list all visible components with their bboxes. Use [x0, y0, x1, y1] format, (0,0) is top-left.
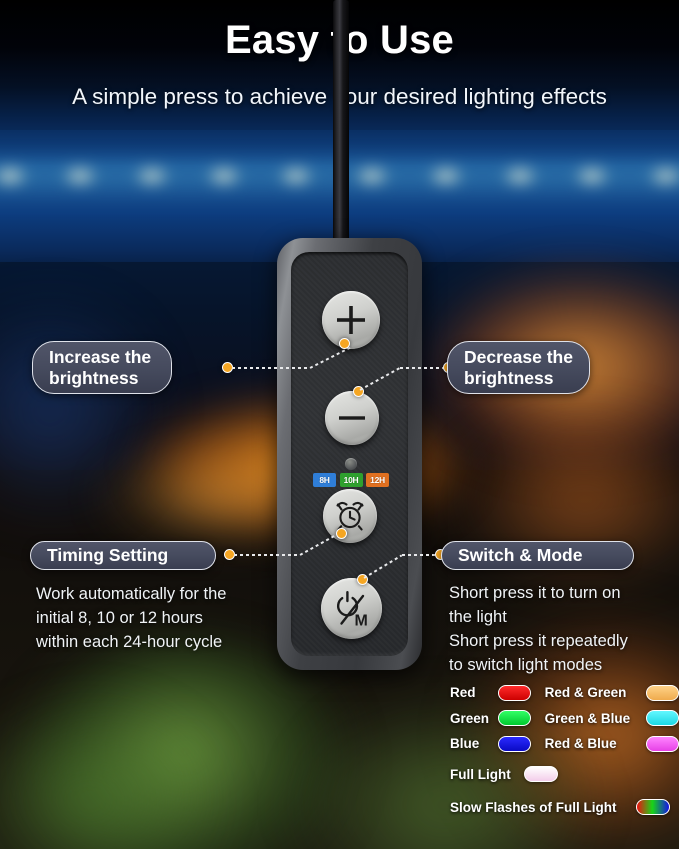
mode-letter: M — [354, 612, 367, 629]
callout-decrease-line2: brightness — [464, 368, 573, 389]
legend-label-blue: Blue — [450, 736, 498, 751]
power-mode-icon: M — [330, 587, 374, 631]
decrease-brightness-button[interactable] — [325, 391, 379, 445]
legend-label-red-green: Red & Green — [545, 685, 647, 700]
connector-dot-timing-button — [336, 528, 347, 539]
callout-timing-setting[interactable]: Timing Setting — [30, 541, 216, 570]
legend-row: Red Red & Green — [450, 680, 679, 706]
legend-swatch-red-blue — [646, 736, 679, 752]
callout-increase-brightness[interactable]: Increase the brightness — [32, 341, 172, 394]
timer-badge-8h-label: 8H — [319, 475, 329, 485]
legend-label-slow-flashes: Slow Flashes of Full Light — [450, 800, 636, 815]
legend-label-red: Red — [450, 685, 498, 700]
timing-setting-button[interactable] — [323, 489, 377, 543]
timer-badge-10h: 10H — [340, 473, 363, 487]
legend-swatch-red — [498, 685, 531, 701]
legend-row-slow-flashes: Slow Flashes of Full Light — [450, 794, 679, 821]
timer-badge-10h-label: 10H — [344, 475, 359, 485]
timer-badge-12h: 12H — [366, 473, 389, 487]
callout-switch-mode[interactable]: Switch & Mode — [441, 541, 634, 570]
callout-timing-label: Timing Setting — [47, 545, 168, 566]
callout-switch-body-line1: Short press it to turn on — [449, 581, 674, 605]
timer-badge-12h-label: 12H — [370, 475, 385, 485]
timer-badges: 8H 10H 12H — [313, 473, 389, 487]
power-cable — [333, 0, 349, 248]
legend-label-red-blue: Red & Blue — [545, 736, 647, 751]
legend-swatch-red-green — [646, 685, 679, 701]
status-led-icon — [345, 458, 357, 470]
callout-timing-body-line1: Work automatically for the — [36, 582, 266, 606]
callout-increase-line1: Increase the — [49, 347, 151, 368]
callout-decrease-line1: Decrease the — [464, 347, 573, 368]
callout-increase-line2: brightness — [49, 368, 151, 389]
legend-row: Blue Red & Blue — [450, 731, 679, 757]
legend-swatch-slow-flashes — [636, 799, 670, 815]
minus-icon — [336, 402, 368, 434]
callout-decrease-text: Decrease the brightness — [464, 347, 573, 389]
timer-badge-8h: 8H — [313, 473, 336, 487]
callout-timing-body: Work automatically for the initial 8, 10… — [36, 582, 266, 654]
legend-label-green-blue: Green & Blue — [545, 711, 647, 726]
switch-mode-button[interactable]: M — [321, 578, 382, 639]
callout-switch-mode-label: Switch & Mode — [458, 545, 582, 566]
infographic-canvas: Easy to Use A simple press to achieve yo… — [0, 0, 679, 849]
legend-swatch-full-light — [524, 766, 558, 782]
increase-brightness-button[interactable] — [322, 291, 380, 349]
legend-swatch-blue — [498, 736, 531, 752]
connector-line-timing — [234, 554, 300, 556]
legend-swatch-green-blue — [646, 710, 679, 726]
connector-dot-increase-button — [339, 338, 350, 349]
callout-decrease-brightness[interactable]: Decrease the brightness — [447, 341, 590, 394]
callout-switch-mode-body: Short press it to turn on the light Shor… — [449, 581, 674, 677]
light-mode-legend: Red Red & Green Green Green & Blue Blue … — [450, 680, 679, 821]
connector-line-increase — [232, 367, 310, 369]
legend-label-green: Green — [450, 711, 498, 726]
connector-line-decrease — [400, 367, 448, 369]
callout-increase-text: Increase the brightness — [49, 347, 151, 389]
legend-label-full-light: Full Light — [450, 767, 524, 782]
callout-switch-body-line3: Short press it repeatedly — [449, 629, 674, 653]
callout-timing-body-line2: initial 8, 10 or 12 hours — [36, 606, 266, 630]
callout-switch-body-line2: the light — [449, 605, 674, 629]
legend-row: Green Green & Blue — [450, 706, 679, 732]
legend-row-full-light: Full Light — [450, 761, 679, 788]
callout-switch-body-line4: to switch light modes — [449, 653, 674, 677]
legend-swatch-green — [498, 710, 531, 726]
callout-timing-body-line3: within each 24-hour cycle — [36, 630, 266, 654]
plus-icon — [334, 303, 368, 337]
